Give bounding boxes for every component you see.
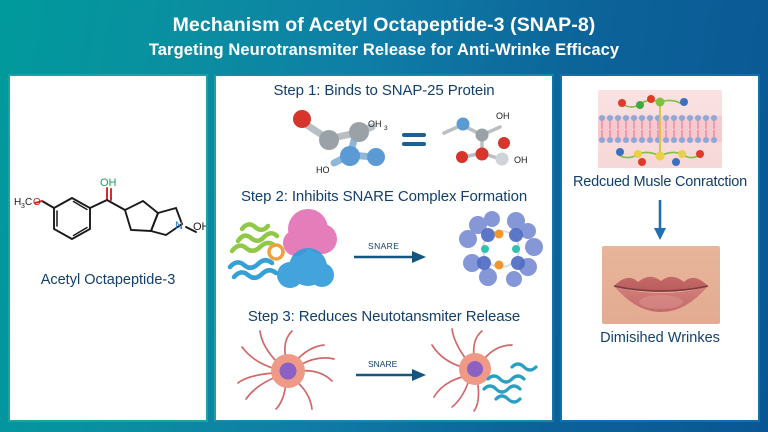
step-2-title: Step 2: Inhibits SNARE Complex Formation (216, 188, 552, 205)
down-arrow-icon (562, 196, 758, 244)
lipid-bilayer-illustration (598, 90, 722, 168)
step-3-title: Step 3: Reduces Neutotansmiter Release (216, 308, 552, 325)
svg-text:O: O (33, 197, 41, 208)
step-2-snare-label: SNARE (368, 241, 399, 251)
lips-photograph (602, 246, 720, 324)
step-3: Step 3: Reduces Neutotansmiter Release (216, 308, 552, 413)
step-3-neuron-icon: SNARE (216, 325, 552, 413)
step-1: Step 1: Binds to SNAP-25 Protein (216, 82, 552, 177)
right-panel-caption-2: Dimisihed Wrinkes (562, 330, 758, 346)
svg-text:OH: OH (496, 111, 510, 121)
left-panel: H 3 C O OH N OH Acetyl Octapeptide-3 (8, 74, 208, 422)
svg-text:OH: OH (514, 155, 528, 165)
step-2-snare-complex-icon: SNARE (216, 205, 552, 290)
acetyl-octapeptide-3-structure-icon: H 3 C O OH N OH (10, 172, 206, 264)
svg-text:OH: OH (193, 221, 206, 233)
step-1-title: Step 1: Binds to SNAP-25 Protein (216, 82, 552, 99)
page-title: Mechanism of Acetyl Octapeptide-3 (SNAP-… (173, 13, 596, 38)
right-panel: Redcued Musle Conratction (560, 74, 760, 422)
right-panel-caption-1: Redcued Musle Conratction (560, 174, 760, 190)
left-panel-caption: Acetyl Octapeptide-3 (10, 272, 206, 288)
svg-text:OH: OH (100, 177, 117, 189)
step-3-snare-label: SNARE (368, 359, 398, 369)
step-1-molecule-icon: OH 3 HO (216, 99, 552, 177)
diagram-board: H 3 C O OH N OH Acetyl Octapeptide-3 Ste… (8, 74, 760, 422)
svg-text:N: N (175, 220, 183, 232)
svg-text:C: C (25, 197, 32, 208)
header-banner: Mechanism of Acetyl Octapeptide-3 (SNAP-… (0, 0, 768, 74)
svg-text:3: 3 (384, 125, 388, 132)
middle-panel: Step 1: Binds to SNAP-25 Protein (214, 74, 554, 422)
svg-text:OH: OH (368, 119, 382, 129)
svg-text:HO: HO (316, 165, 330, 175)
page-subtitle: Targeting Neurotransmiter Release for An… (149, 39, 619, 62)
step-2: Step 2: Inhibits SNARE Complex Formation (216, 188, 552, 290)
